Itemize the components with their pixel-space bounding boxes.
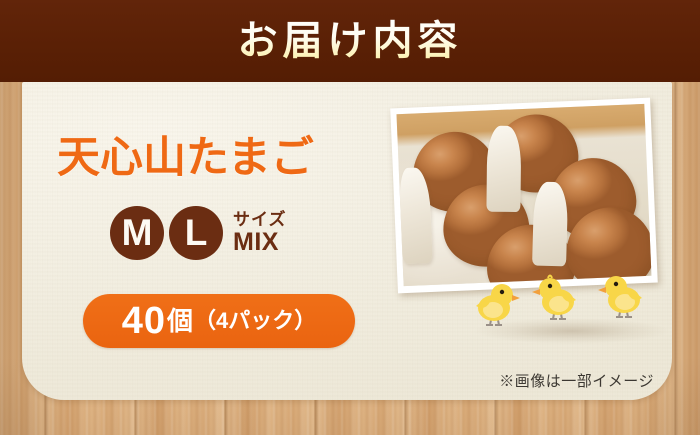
- quantity-unit: 個: [167, 308, 193, 334]
- size-kana-label: サイズ: [233, 211, 287, 228]
- page-title: お届け内容: [0, 13, 700, 69]
- chick-icon: [598, 272, 646, 318]
- egg-photo-frame: [390, 98, 658, 294]
- size-badge-group: M L サイズ MIX: [110, 206, 287, 260]
- content-card: 天心山たまご M L サイズ MIX 40 個 （4パック）: [22, 82, 672, 400]
- quantity-badge: 40 個 （4パック）: [83, 294, 355, 348]
- chick-icon: [532, 274, 580, 320]
- product-detail-banner: お届け内容 天心山たまご M L サイズ MIX 40 個 （4パック）: [0, 0, 700, 435]
- header-band: お届け内容: [0, 0, 700, 82]
- size-badge-l: L: [169, 206, 223, 260]
- chick-icon: [472, 280, 520, 326]
- size-mix-label: サイズ MIX: [233, 211, 287, 255]
- carton-cone: [486, 126, 521, 212]
- quantity-pack: （4パック）: [194, 310, 316, 332]
- size-badge-m: M: [110, 206, 164, 260]
- size-mix-text: MIX: [233, 230, 287, 255]
- image-disclaimer: ※画像は一部イメージ: [454, 370, 654, 391]
- quantity-number: 40: [122, 302, 166, 340]
- egg-photo-image: [396, 104, 651, 286]
- carton-cone: [532, 181, 568, 266]
- product-name: 天心山たまご: [57, 134, 314, 182]
